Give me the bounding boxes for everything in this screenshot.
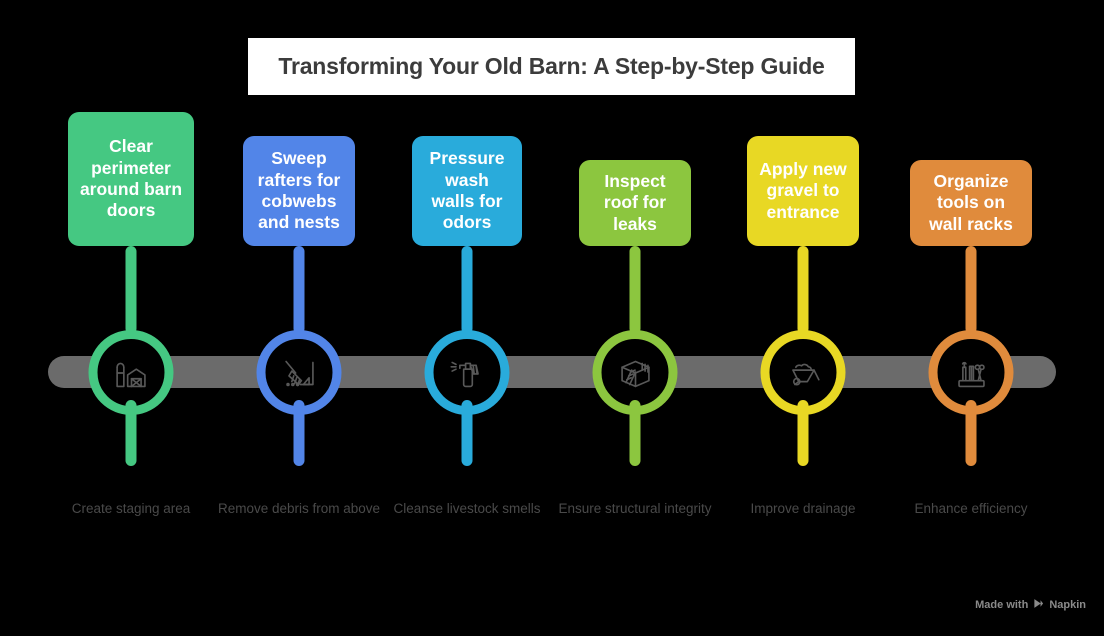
step-connector-upper xyxy=(798,246,809,334)
step-connector-lower xyxy=(126,400,137,466)
step-card[interactable]: Pressure wash walls for odors xyxy=(412,136,522,246)
barn-silo-icon xyxy=(108,350,154,396)
step-card-label: Inspect roof for leaks xyxy=(589,171,681,235)
step-card[interactable]: Organize tools on wall racks xyxy=(910,160,1032,246)
step-caption: Improve drainage xyxy=(708,500,898,518)
step-connector-lower xyxy=(294,400,305,466)
watermark-brand: Napkin xyxy=(1049,599,1086,611)
infographic-canvas: Transforming Your Old Barn: A Step-by-St… xyxy=(0,0,1104,636)
watermark: Made with Napkin xyxy=(975,598,1086,612)
step-card[interactable]: Inspect roof for leaks xyxy=(579,160,691,246)
step-card-label: Clear perimeter around barn doors xyxy=(78,136,184,221)
tool-rack-icon xyxy=(948,350,994,396)
step-connector-lower xyxy=(966,400,977,466)
step-connector-lower xyxy=(798,400,809,466)
step-card[interactable]: Clear perimeter around barn doors xyxy=(68,112,194,246)
spray-bottle-icon xyxy=(444,350,490,396)
watermark-prefix: Made with xyxy=(975,599,1028,611)
step-card[interactable]: Sweep rafters for cobwebs and nests xyxy=(243,136,355,246)
step-card-label: Pressure wash walls for odors xyxy=(422,148,512,233)
wheelbarrow-icon xyxy=(780,350,826,396)
step-caption: Ensure structural integrity xyxy=(540,500,730,518)
step-caption: Remove debris from above xyxy=(204,500,394,518)
step-connector-upper xyxy=(630,246,641,334)
step-connector-lower xyxy=(630,400,641,466)
step-caption: Cleanse livestock smells xyxy=(372,500,562,518)
step-card[interactable]: Apply new gravel to entrance xyxy=(747,136,859,246)
step-caption: Create staging area xyxy=(36,500,226,518)
step-connector-upper xyxy=(462,246,473,334)
step-connector-lower xyxy=(462,400,473,466)
roof-ladder-icon xyxy=(612,350,658,396)
step-card-label: Apply new gravel to entrance xyxy=(757,159,849,223)
step-connector-upper xyxy=(294,246,305,334)
step-connector-upper xyxy=(966,246,977,334)
step-card-label: Sweep rafters for cobwebs and nests xyxy=(253,148,345,233)
step-connector-upper xyxy=(126,246,137,334)
step-caption: Enhance efficiency xyxy=(876,500,1066,518)
step-card-label: Organize tools on wall racks xyxy=(920,171,1022,235)
broom-icon xyxy=(276,350,322,396)
napkin-logo-icon xyxy=(1033,598,1044,612)
timeline-step: Organize tools on wall racksEnhance effi… xyxy=(871,0,1071,636)
